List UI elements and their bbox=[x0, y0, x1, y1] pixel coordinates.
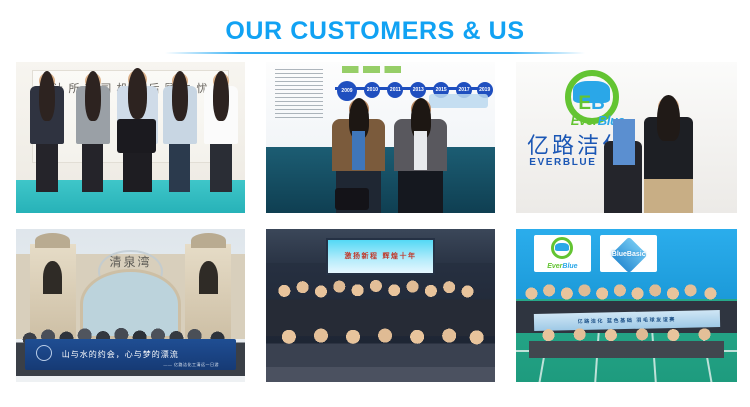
timeline-node: 2011 bbox=[387, 82, 403, 98]
person-legs bbox=[398, 171, 443, 213]
page-title: OUR CUSTOMERS & US bbox=[0, 16, 750, 46]
company-name-english: EVERBLUE bbox=[529, 157, 596, 168]
customer-photo-gallery: 让所有司机无后顾之忧 bbox=[16, 62, 734, 382]
photo-content: EB EverBlue 亿路洁化 EVERBLUE bbox=[516, 62, 737, 213]
person-hair bbox=[213, 71, 229, 121]
banner-sub-text: —— 亿路洁化工清远一日游 bbox=[163, 362, 219, 368]
banner-main-text: 山与水的约会，心与梦的漂流 bbox=[62, 349, 179, 360]
resort-sign-text: 清泉湾 bbox=[92, 253, 170, 270]
person-legs bbox=[644, 179, 693, 213]
gallery-photo-badminton-court[interactable]: EverBlue BlueBasic 亿路洁化 蓝色基础 羽毛球友谊赛 bbox=[516, 229, 737, 382]
wordmark-blue: Blue bbox=[562, 263, 577, 270]
bluebasic-logo-panel: BlueBasic bbox=[600, 235, 657, 272]
person-figure bbox=[644, 97, 693, 213]
wordmark-ever: Ever bbox=[571, 113, 598, 128]
person-figure bbox=[204, 73, 238, 192]
person-legs bbox=[36, 144, 57, 192]
wordmark-ever: Ever bbox=[547, 263, 562, 270]
gallery-photo-office-group[interactable]: 让所有司机无后顾之忧 bbox=[16, 62, 245, 213]
gallery-photo-timeline-wall[interactable]: 2009 2010 2011 2013 2015 2017 2019 bbox=[266, 62, 495, 213]
timeline-node: 2013 bbox=[410, 82, 426, 98]
photo-content: 2009 2010 2011 2013 2015 2017 2019 bbox=[266, 62, 495, 213]
person-legs bbox=[210, 144, 231, 192]
person-figure bbox=[163, 73, 197, 192]
event-banner: 山与水的约会，心与梦的漂流 —— 亿路洁化工清远一日游 bbox=[25, 339, 236, 370]
wall-paragraph-block bbox=[275, 69, 323, 121]
photo-content: 让所有司机无后顾之忧 bbox=[16, 62, 245, 213]
logo-letter-e: E bbox=[578, 93, 591, 114]
person-hair bbox=[172, 71, 188, 121]
gallery-photo-annual-meeting[interactable]: 激扬新程 辉煌十年 bbox=[266, 229, 495, 382]
briefcase-prop bbox=[117, 119, 156, 153]
logo-letter-b: B bbox=[591, 93, 605, 114]
gallery-photo-everblue-logo-wall[interactable]: EB EverBlue 亿路洁化 EVERBLUE bbox=[516, 62, 737, 213]
person-legs bbox=[82, 144, 103, 192]
briefcase-prop bbox=[335, 188, 369, 210]
person-legs bbox=[169, 144, 190, 192]
logo-letters: EB bbox=[565, 94, 619, 114]
person-shirt bbox=[352, 131, 365, 170]
person-figure bbox=[30, 73, 64, 192]
section-header: OUR CUSTOMERS & US bbox=[0, 0, 750, 54]
timeline-node: 2010 bbox=[364, 82, 380, 98]
venue-floor bbox=[266, 367, 495, 382]
person-shirt bbox=[414, 131, 427, 170]
bluebasic-wordmark: BlueBasic bbox=[600, 251, 657, 258]
person-hair bbox=[128, 68, 147, 119]
wall-tag-row bbox=[342, 66, 402, 73]
person-figure bbox=[394, 99, 447, 213]
timeline-node: 2009 bbox=[337, 81, 357, 101]
logo-cloud-shape bbox=[555, 243, 569, 251]
everblue-logo-panel: EverBlue bbox=[534, 235, 591, 272]
led-screen-text: 激扬新程 辉煌十年 bbox=[328, 251, 434, 261]
logo-wordmark: EverBlue bbox=[534, 263, 591, 270]
person-hair bbox=[85, 71, 101, 121]
person-hair bbox=[657, 95, 679, 142]
everblue-logo-icon bbox=[551, 237, 573, 259]
person-hair bbox=[39, 71, 55, 121]
photo-content: EverBlue BlueBasic 亿路洁化 蓝色基础 羽毛球友谊赛 bbox=[516, 229, 737, 382]
lanyard-badge bbox=[613, 119, 635, 164]
banner-seal-icon bbox=[36, 345, 52, 361]
gallery-photo-resort-group[interactable]: 清泉湾 山与水的约会，心与梦的漂流 —— 亿路洁化工清远一日游 bbox=[16, 229, 245, 382]
led-screen: 激扬新程 辉煌十年 bbox=[326, 238, 436, 275]
title-underline-divider bbox=[165, 52, 585, 54]
photo-content: 激扬新程 辉煌十年 bbox=[266, 229, 495, 382]
photo-content: 清泉湾 山与水的约会，心与梦的漂流 —— 亿路洁化工清远一日游 bbox=[16, 229, 245, 382]
team-seated-row bbox=[529, 324, 723, 361]
person-figure bbox=[76, 73, 110, 192]
